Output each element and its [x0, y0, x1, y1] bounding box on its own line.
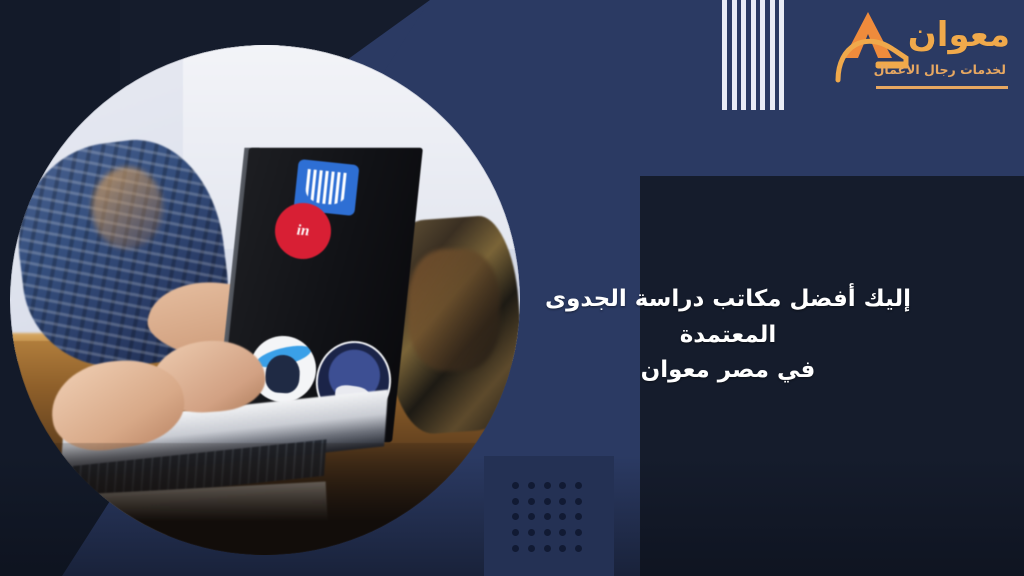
grid-dot: [559, 482, 566, 489]
grid-dot: [559, 513, 566, 520]
photo-sleeve-highlight: [92, 167, 163, 249]
grid-dot: [544, 482, 551, 489]
headline-line-1: إليك أفضل مكاتب دراسة الجدوى المعتمدة: [545, 286, 911, 348]
grid-dot: [528, 529, 535, 536]
photo-bag-highlight: [408, 249, 500, 371]
dot-grid-decoration: [508, 478, 586, 556]
grid-dot: [559, 498, 566, 505]
stripe-bar: [779, 0, 784, 110]
grid-dot: [575, 482, 582, 489]
headline-line-2: في مصر معوان: [512, 353, 944, 389]
grid-dot: [544, 498, 551, 505]
grid-dot: [528, 545, 535, 552]
brand-tagline: لخدمات رجال الاعمال: [874, 62, 1006, 77]
photo-foreground-shadow: [10, 443, 520, 555]
grid-dot: [559, 529, 566, 536]
stripe-bar: [722, 0, 727, 110]
brand-name: معوان: [908, 18, 1010, 52]
sticker-in-circle-icon: [273, 201, 333, 261]
grid-dot: [575, 529, 582, 536]
logo-underline: [876, 86, 1008, 89]
grid-dot: [544, 545, 551, 552]
grid-dot: [512, 545, 519, 552]
grid-dot: [528, 498, 535, 505]
grid-dot: [575, 545, 582, 552]
brand-logo[interactable]: معوان لخدمات رجال الاعمال: [832, 6, 1012, 98]
grid-dot: [528, 482, 535, 489]
stripe-bar: [741, 0, 746, 110]
vertical-stripes-decoration: [722, 0, 784, 110]
hero-photo-content: [10, 45, 520, 555]
grid-dot: [512, 513, 519, 520]
stripe-bar: [732, 0, 737, 110]
hero-photo: [10, 45, 520, 555]
banner-canvas: معوان لخدمات رجال الاعمال: [0, 0, 1024, 576]
grid-dot: [528, 513, 535, 520]
stripe-bar: [751, 0, 756, 110]
grid-dot: [512, 482, 519, 489]
grid-dot: [544, 513, 551, 520]
stripe-bar: [770, 0, 775, 110]
grid-dot: [544, 529, 551, 536]
grid-dot: [575, 513, 582, 520]
grid-dot: [512, 529, 519, 536]
grid-dot: [512, 498, 519, 505]
grid-dot: [575, 498, 582, 505]
headline: إليك أفضل مكاتب دراسة الجدوى المعتمدة في…: [512, 282, 944, 389]
grid-dot: [559, 545, 566, 552]
stripe-bar: [760, 0, 765, 110]
sticker-script-text-icon: [335, 171, 415, 255]
